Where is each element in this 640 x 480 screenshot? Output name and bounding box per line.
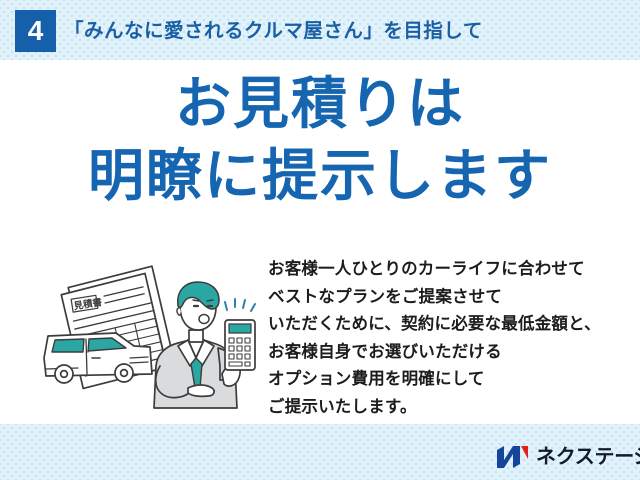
body-line: ご提示いたします。 [268,394,618,422]
brand-logo: ネクステージ [496,442,640,472]
illustration-svg: 見積書 [38,262,266,414]
body-line: お客様一人ひとりのカーライフに合わせて [268,256,618,284]
sparkle-icon [225,299,255,311]
brand-logo-text: ネクステージ [536,445,640,469]
illustration: 見積書 [38,262,266,414]
body-line: お客様自身でお選びいただける [268,339,618,367]
calculator-icon [225,320,255,370]
page-title: お見積りは 明瞭に提示します [0,76,640,204]
body-line: ベストなプランをご提案させて [268,284,618,312]
body-paragraph: お客様一人ひとりのカーライフに合わせて ベストなプランをご提案させて いただくた… [268,256,618,421]
body-line: オプション費用を明確にして [268,366,618,394]
section-number-badge: 4 [15,10,56,52]
body-line: いただくために、契約に必要な最低金額と、 [268,311,618,339]
header-title: 「みんなに愛されるクルマ屋さん」を目指して [64,17,483,45]
nextage-n-logo-icon [496,445,529,469]
headline-line-2: 明瞭に提示します [0,148,640,204]
headline-line-1: お見積りは [0,76,640,132]
promo-slide: 4 「みんなに愛されるクルマ屋さん」を目指して お見積りは 明瞭に提示します 見… [0,0,640,480]
